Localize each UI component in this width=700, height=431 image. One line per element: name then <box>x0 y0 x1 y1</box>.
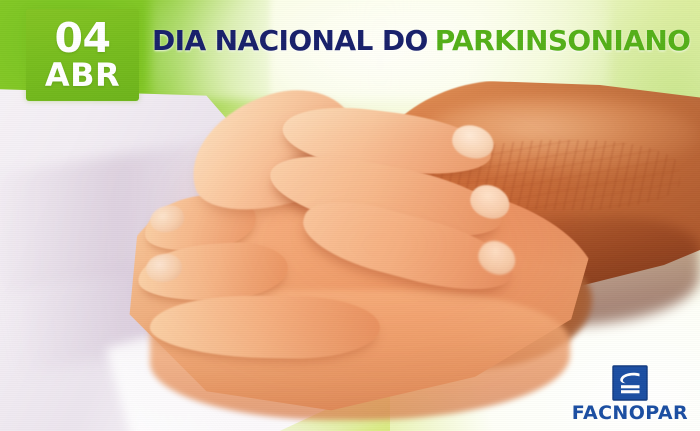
facnopar-wordmark: FACNOPAR <box>572 404 688 423</box>
headline-primary: DIA NACIONAL DO <box>152 24 428 57</box>
facnopar-swoosh-square-icon <box>612 365 648 401</box>
facnopar-logo: FACNOPAR <box>572 365 688 423</box>
headline-accent: PARKINSONIANO <box>435 24 691 57</box>
date-badge-day: 04 <box>54 19 110 58</box>
date-badge: 04 ABR <box>26 9 139 101</box>
awareness-banner: 04 ABR DIA NACIONAL DOPARKINSONIANO FACN… <box>0 0 700 431</box>
date-badge-month: ABR <box>45 59 120 91</box>
headline: DIA NACIONAL DOPARKINSONIANO <box>152 27 690 55</box>
